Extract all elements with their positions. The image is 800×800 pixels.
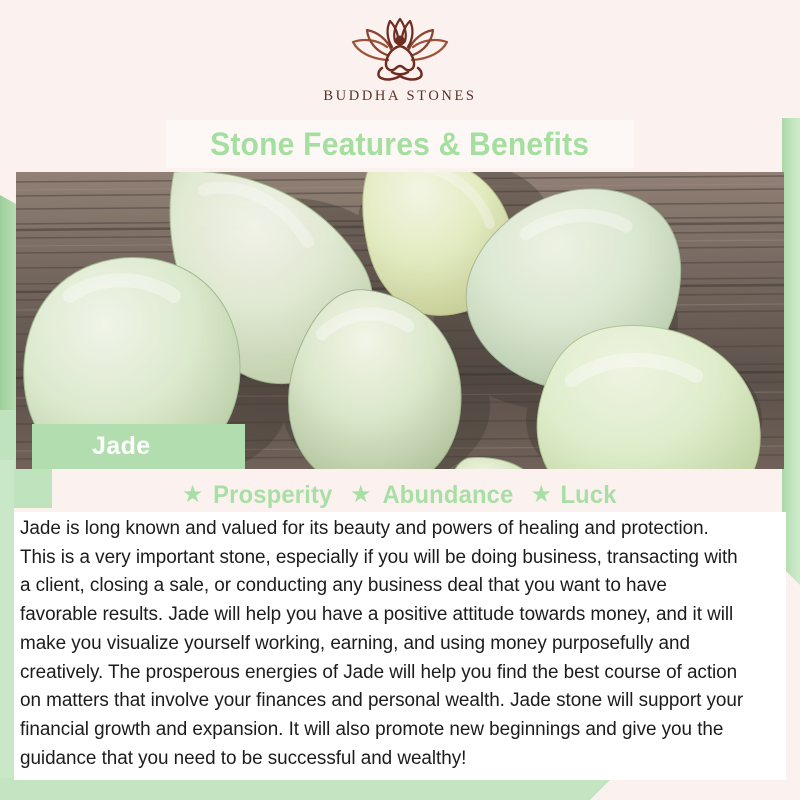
stone-name-label: Jade: [32, 424, 245, 469]
lotus-meditation-icon: [340, 16, 460, 82]
brand-header: BUDDHA STONES: [0, 0, 800, 118]
stone-info-poster: BUDDHA STONES Stone Features & Benefits: [0, 0, 800, 800]
star-icon: ★: [530, 483, 552, 507]
benefit-item-luck: ★ Luck: [530, 481, 618, 510]
benefit-label: Prosperity: [214, 481, 333, 510]
stone-name-text: Jade: [92, 432, 151, 461]
decorative-green-edge-left: [0, 460, 14, 782]
brand-name: BUDDHA STONES: [323, 88, 476, 105]
page-title: Stone Features & Benefits: [210, 126, 589, 163]
benefit-item-prosperity: ★ Prosperity: [182, 481, 336, 510]
benefit-label: Luck: [560, 481, 616, 510]
star-icon: ★: [350, 483, 372, 507]
benefit-label: Abundance: [382, 481, 513, 510]
description-panel: Jade is long known and valued for its be…: [14, 512, 786, 780]
star-icon: ★: [182, 483, 204, 507]
benefits-row: ★ Prosperity ★ Abundance ★ Luck: [14, 478, 786, 512]
benefit-item-abundance: ★ Abundance: [350, 481, 516, 510]
title-banner: Stone Features & Benefits: [166, 120, 634, 168]
decorative-green-band-bottom: [0, 778, 612, 800]
description-text: Jade is long known and valued for its be…: [20, 514, 748, 772]
